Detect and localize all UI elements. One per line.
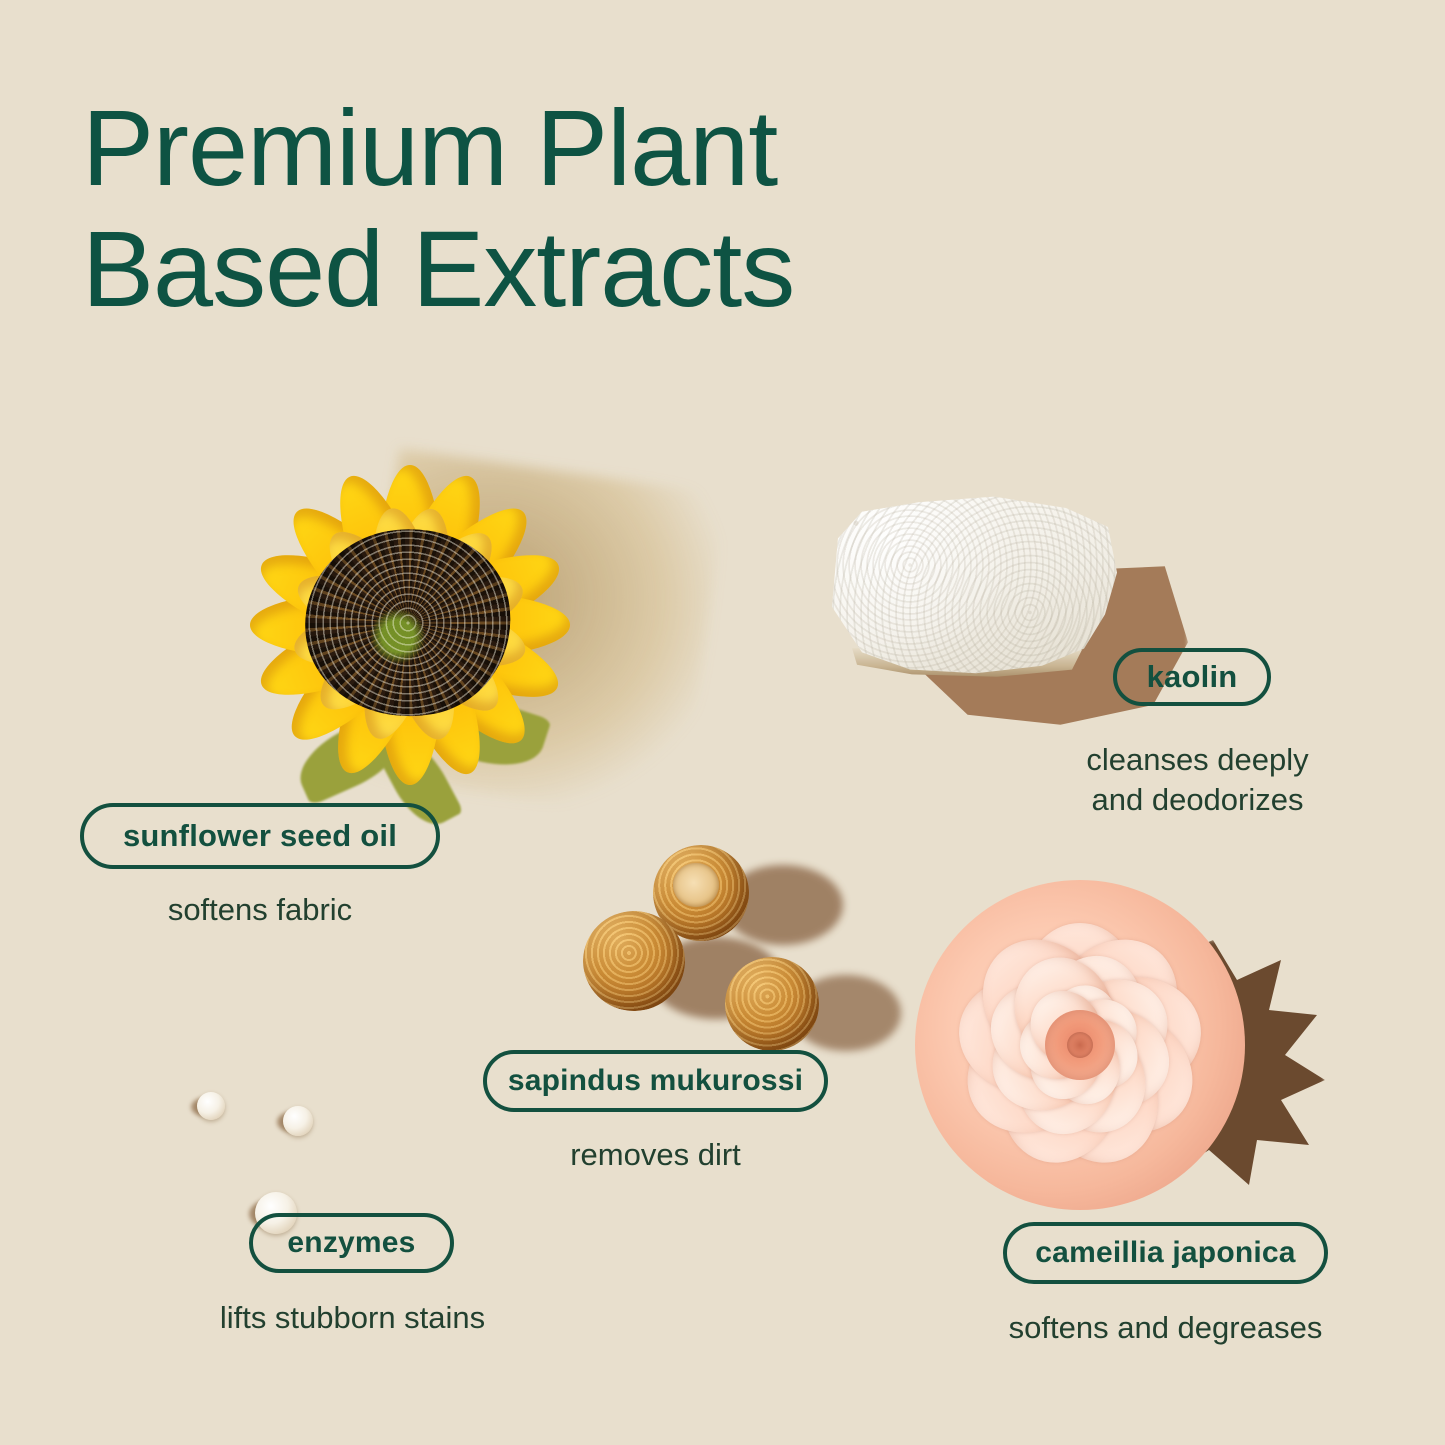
ingredient-pill-kaolin[interactable]: kaolin — [1113, 648, 1271, 706]
infographic-canvas: Premium Plant Based Extracts — [0, 0, 1445, 1445]
ingredient-caption-enzymes: lifts stubborn stains — [150, 1298, 555, 1338]
ingredient-caption-sunflower-seed-oil: softens fabric — [80, 890, 440, 930]
ingredient-caption-sapindus-mukurossi: removes dirt — [483, 1135, 828, 1175]
ingredient-caption-kaolin: cleanses deeply and deodorizes — [1000, 740, 1395, 819]
camellia-bloom — [915, 880, 1245, 1210]
ingredient-pill-sapindus-mukurossi[interactable]: sapindus mukurossi — [483, 1050, 828, 1112]
sunflower-photo — [175, 400, 645, 850]
enzyme-granule — [197, 1092, 225, 1120]
ingredient-caption-cameillia-japonica: softens and degreases — [968, 1308, 1363, 1348]
page-title: Premium Plant Based Extracts — [82, 88, 982, 330]
kaolin-clay-photo — [820, 485, 1160, 720]
soap-nut — [583, 911, 685, 1011]
enzyme-granule — [283, 1106, 313, 1136]
soap-nut — [725, 957, 819, 1051]
ingredient-pill-cameillia-japonica[interactable]: cameillia japonica — [1003, 1222, 1328, 1284]
ingredient-pill-enzymes[interactable]: enzymes — [249, 1213, 454, 1273]
ingredient-pill-sunflower-seed-oil[interactable]: sunflower seed oil — [80, 803, 440, 869]
camellia-flower-photo — [915, 880, 1315, 1225]
soap-nuts-photo — [555, 845, 855, 1065]
camellia-center — [1045, 1010, 1115, 1080]
kaolin-rock — [820, 489, 1120, 679]
